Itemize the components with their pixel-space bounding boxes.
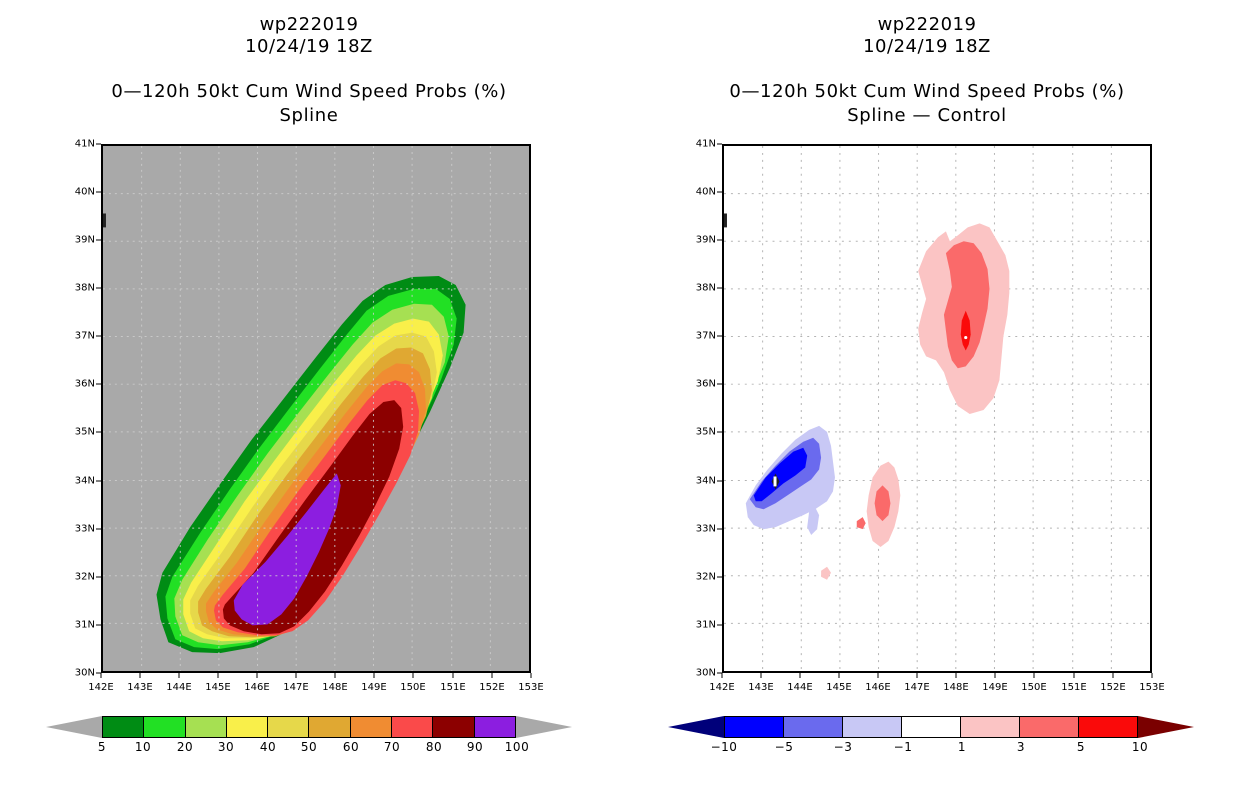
contour-field-left [103,146,529,671]
y-label-38N: 38N [75,283,95,294]
y-label-39N: 39N [75,235,95,246]
colorbar-seg-30-40[interactable] [227,717,268,737]
x-label-149E-right: 149E [982,682,1007,693]
colorbar-over-cap-left [516,716,572,738]
x-label-150E-right: 150E [1021,682,1046,693]
x-label-143E: 143E [127,682,152,693]
x-label-148E: 148E [322,682,347,693]
colorbar-seg-m5-m3[interactable] [784,717,843,737]
x-label-153E-right: 153E [1139,682,1164,693]
y-label-31N: 31N [75,620,95,631]
y-label-40N-right: 40N [696,187,716,198]
cbar-label-70: 70 [384,740,400,754]
colorbar-seg-1-3[interactable] [961,717,1020,737]
cbar-label-neg10: −10 [711,740,738,754]
colorbar-right: −10 −5 −3 −1 1 3 5 10 [668,716,1194,776]
cbar-label-neg1: −1 [894,740,913,754]
x-label-150E: 150E [400,682,425,693]
x-label-151E: 151E [440,682,465,693]
colorbar-seg-3-5[interactable] [1020,717,1079,737]
core-void-marker-north [964,336,967,339]
colorbar-seg-70-80[interactable] [392,717,433,737]
colorbar-seg-5-10[interactable] [103,717,144,737]
colorbar-seg-10-20[interactable] [144,717,185,737]
y-label-36N-right: 36N [696,379,716,390]
y-label-32N: 32N [75,572,95,583]
x-label-151E-right: 151E [1061,682,1086,693]
cbar-label-90: 90 [467,740,483,754]
panel-spline: wp222019 10/24/19 18Z 0—120h 50kt Cum Wi… [0,0,618,800]
chart-title-left: 0—120h 50kt Cum Wind Speed Probs (%) [0,80,618,104]
cbar-label-60: 60 [343,740,359,754]
coastline-fragment-right [724,213,727,227]
x-label-145E-right: 145E [826,682,851,693]
colorbar-row-right [668,716,1194,738]
plot-inner-left [103,146,529,671]
cbar-label-50: 50 [301,740,317,754]
x-label-146E-right: 146E [865,682,890,693]
cbar-label-neg3: −3 [834,740,853,754]
panel-titles-left: wp222019 10/24/19 18Z 0—120h 50kt Cum Wi… [0,0,618,127]
colorbar-seg-60-70[interactable] [351,717,392,737]
chart-page: wp222019 10/24/19 18Z 0—120h 50kt Cum Wi… [0,0,1236,800]
x-label-148E-right: 148E [943,682,968,693]
colorbar-seg-40-50[interactable] [268,717,309,737]
y-label-34N: 34N [75,476,95,487]
colorbar-seg-m10-m5[interactable] [725,717,784,737]
chart-subtitle-right: Spline — Control [618,104,1236,127]
x-label-153E: 153E [518,682,543,693]
cbar-label-pos3: 3 [1017,740,1025,754]
colorbar-ticklabels-right: −10 −5 −3 −1 1 3 5 10 [668,738,1194,758]
cbar-label-30: 30 [218,740,234,754]
cbar-label-5: 5 [98,740,106,754]
colorbar-seg-20-30[interactable] [186,717,227,737]
x-label-152E-right: 152E [1100,682,1125,693]
plot-inner-right [724,146,1150,671]
colorbar-seg-m1-1[interactable] [902,717,961,737]
cbar-label-80: 80 [426,740,442,754]
x-label-142E-right: 142E [709,682,734,693]
x-label-142E: 142E [88,682,113,693]
panel-titles-right: wp222019 10/24/19 18Z 0—120h 50kt Cum Wi… [618,0,1236,127]
contour-field-right [724,146,1150,671]
storm-id-right: wp222019 [618,14,1236,36]
chart-subtitle-left: Spline [0,104,618,127]
x-label-146E: 146E [244,682,269,693]
colorbar-row-left [46,716,572,738]
storm-id-left: wp222019 [0,14,618,36]
y-label-37N-right: 37N [696,331,716,342]
plot-frame-right [722,144,1152,673]
storm-datetime-right: 10/24/19 18Z [618,36,1236,58]
cbar-label-neg5: −5 [775,740,794,754]
y-label-40N: 40N [75,187,95,198]
map-plot-left: 30N 31N 32N 33N 34N 35N 36N 37N 38N 39N … [101,144,531,673]
graticule-right [724,146,1150,671]
x-label-149E: 149E [361,682,386,693]
plot-frame-left [101,144,531,673]
colorbar-seg-m3-m1[interactable] [843,717,902,737]
cbar-label-100: 100 [505,740,529,754]
y-label-32N-right: 32N [696,572,716,583]
y-label-35N-right: 35N [696,427,716,438]
x-label-144E-right: 144E [787,682,812,693]
y-label-41N: 41N [75,139,95,150]
colorbar-left: 5 10 20 30 40 50 60 70 80 90 100 [46,716,572,776]
x-label-152E: 152E [479,682,504,693]
y-label-38N-right: 38N [696,283,716,294]
colorbar-segments-left [102,716,516,738]
colorbar-over-cap-right [1138,716,1194,738]
y-label-31N-right: 31N [696,620,716,631]
x-label-147E-right: 147E [904,682,929,693]
cbar-label-pos5: 5 [1077,740,1085,754]
colorbar-seg-90-100[interactable] [475,717,515,737]
coastline-fragment [103,213,106,227]
x-label-144E: 144E [166,682,191,693]
cbar-label-10: 10 [135,740,151,754]
y-label-33N: 33N [75,524,95,535]
colorbar-ticklabels-left: 5 10 20 30 40 50 60 70 80 90 100 [46,738,572,758]
cbar-label-40: 40 [260,740,276,754]
contour-pos-1-3-tip [857,517,866,529]
storm-datetime-left: 10/24/19 18Z [0,36,618,58]
cbar-label-pos10: 10 [1132,740,1148,754]
x-label-147E: 147E [283,682,308,693]
colorbar-segments-right [724,716,1138,738]
y-label-37N: 37N [75,331,95,342]
colorbar-seg-50-60[interactable] [309,717,350,737]
y-label-30N: 30N [75,668,95,679]
colorbar-seg-5-10[interactable] [1079,717,1137,737]
colorbar-under-cap-right [668,716,724,738]
y-label-34N-right: 34N [696,476,716,487]
y-label-39N-right: 39N [696,235,716,246]
map-plot-right: 30N 31N 32N 33N 34N 35N 36N 37N 38N 39N … [722,144,1152,673]
y-label-41N-right: 41N [696,139,716,150]
cbar-label-pos1: 1 [958,740,966,754]
x-label-145E: 145E [205,682,230,693]
x-label-143E-right: 143E [748,682,773,693]
colorbar-under-cap-left [46,716,102,738]
panel-spline-control: wp222019 10/24/19 18Z 0—120h 50kt Cum Wi… [618,0,1236,800]
cbar-label-20: 20 [177,740,193,754]
colorbar-seg-80-90[interactable] [433,717,474,737]
y-label-33N-right: 33N [696,524,716,535]
contour-pos-1-3-speck [821,567,831,580]
y-label-30N-right: 30N [696,668,716,679]
y-label-36N: 36N [75,379,95,390]
y-label-35N: 35N [75,427,95,438]
chart-title-right: 0—120h 50kt Cum Wind Speed Probs (%) [618,80,1236,104]
